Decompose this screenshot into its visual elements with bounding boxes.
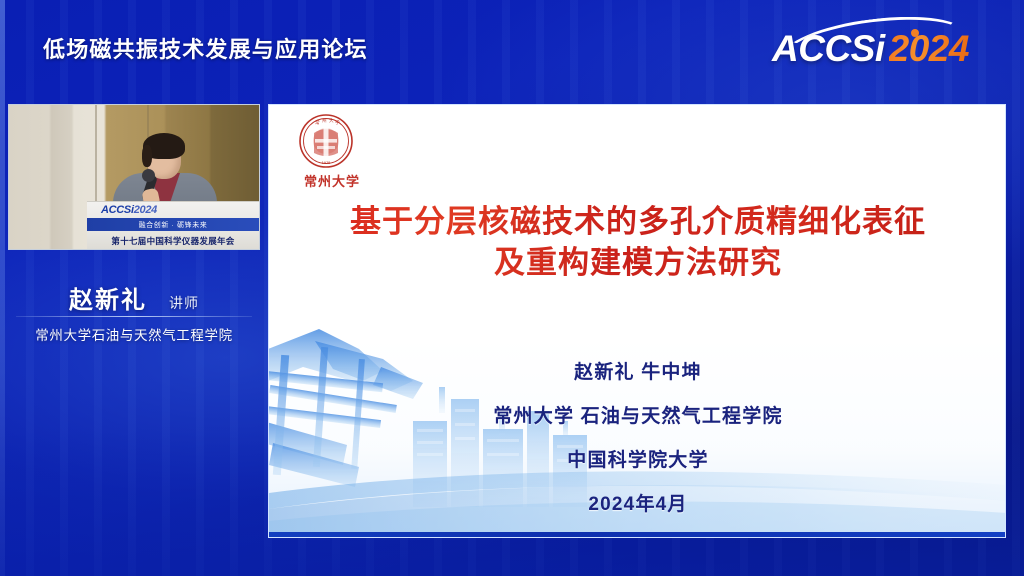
slide-affiliation-1: 常州大学 石油与天然气工程学院 [309,401,967,428]
speaker-divider [16,316,252,317]
brand-name-text: ACCSi [772,28,885,70]
university-name-label: 常州大学 [286,171,378,190]
podium-brand-year: 2024 [134,204,157,216]
changzhou-university-seal-icon: 常州 大学 1978 常州大学 [286,113,378,197]
svg-text:大: 大 [329,117,334,124]
slide-affiliation-2: 中国科学院大学 [309,445,967,472]
slide-title: 基于分层核磁技术的多孔介质精细化表征 及重构建模方法研究 [299,201,977,283]
svg-text:学: 学 [335,119,340,126]
podium-conference-band: 第十七届中国科学仪器发展年会 [87,233,259,248]
microphone-head-icon [142,169,155,182]
webcast-stage: 低场磁共振技术发展与应用论坛 ACCSi 2024 [0,0,1024,576]
forum-title: 低场磁共振技术发展与应用论坛 [43,32,368,64]
slide-bottom-accent-strip [269,532,1006,537]
presentation-slide[interactable]: 常州 大学 1978 常州大学 基于分层核磁技术的多孔介质精细化表征 及重构建模… [268,104,1006,538]
slide-title-line-1: 基于分层核磁技术的多孔介质精细化表征 [299,201,977,242]
podium-brand-text: ACCSi2024 [101,204,157,216]
speaker-video-thumbnail[interactable]: ACCSi2024 融合创新 · 砺锋未来 第十七届中国科学仪器发展年会 [8,104,260,250]
brand-text-row: ACCSi 2024 [772,28,969,70]
speaker-identity-row: 赵新礼 讲师 [0,280,268,315]
slide-authors: 赵新礼 牛中坤 [309,357,967,384]
speaker-hair-side [142,145,152,167]
header-bar: 低场磁共振技术发展与应用论坛 ACCSi 2024 [0,0,1024,86]
accsi-brand-logo: ACCSi 2024 [772,16,1002,74]
podium-slogan-text: 融合创新 · 砺锋未来 [139,220,208,230]
slide-date: 2024年4月 [309,489,967,516]
brand-year-text: 2024 [889,28,969,70]
slide-author-block: 赵新礼 牛中坤 常州大学 石油与天然气工程学院 中国科学院大学 2024年4月 [309,357,967,516]
podium-brand-name: ACCSi [101,204,134,216]
podium-conference-text: 第十七届中国科学仪器发展年会 [111,235,234,247]
podium-sign: ACCSi2024 融合创新 · 砺锋未来 第十七届中国科学仪器发展年会 [87,201,259,249]
speaker-affiliation: 常州大学石油与天然气工程学院 [0,324,268,344]
speaker-panel: ACCSi2024 融合创新 · 砺锋未来 第十七届中国科学仪器发展年会 赵新礼… [0,104,268,250]
speaker-name: 赵新礼 [69,280,147,315]
speaker-role: 讲师 [169,293,199,313]
slide-title-line-2: 及重构建模方法研究 [299,242,977,283]
svg-text:常: 常 [315,119,320,126]
brand-i-dot-icon [911,29,919,37]
university-seal-graphic: 常州 大学 1978 [298,113,354,169]
svg-text:1978: 1978 [322,161,331,165]
podium-slogan-band: 融合创新 · 砺锋未来 [87,218,259,231]
svg-text:州: 州 [322,118,327,124]
